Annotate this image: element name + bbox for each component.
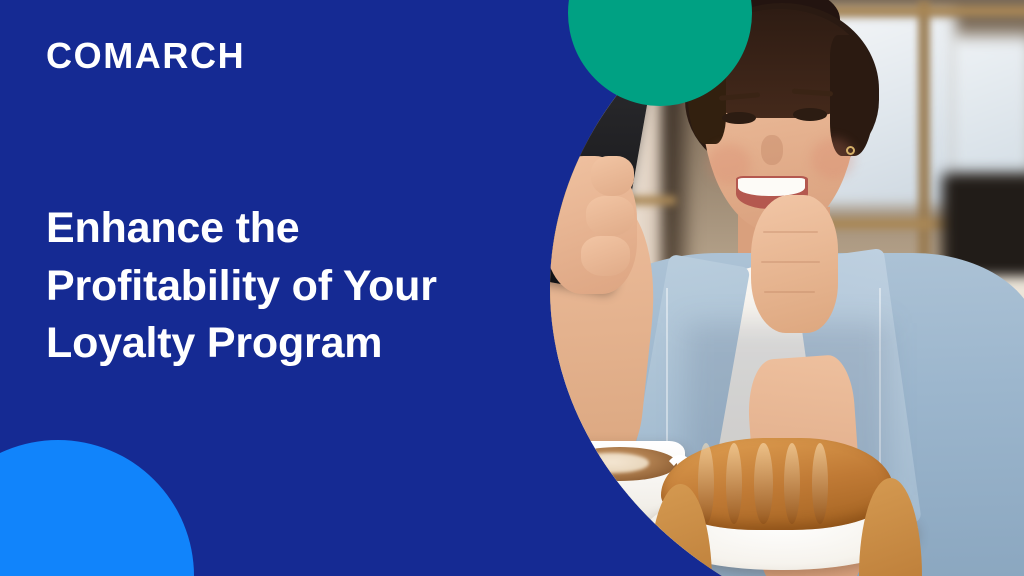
coffee-foam	[575, 453, 648, 473]
eye-right	[793, 108, 827, 121]
croissant-fold-4	[784, 443, 800, 524]
finger-3	[581, 236, 629, 276]
croissant-fold-5	[812, 443, 828, 524]
blue-circle-decoration	[0, 440, 194, 576]
knuckle-line-2	[761, 261, 820, 263]
headline-line-1: Enhance the	[46, 200, 526, 258]
marketing-banner: COMARCH Enhance the Profitability of You…	[0, 0, 1024, 576]
knuckle-line-1	[763, 231, 819, 233]
cheek-right	[811, 138, 855, 178]
croissant-fold-3	[754, 443, 773, 524]
teeth	[738, 178, 805, 197]
page-title: Enhance the Profitability of Your Loyalt…	[46, 200, 526, 373]
croissant-fold-2	[726, 443, 742, 524]
headline-line-3: Loyalty Program	[46, 315, 526, 373]
knuckle-line-3	[764, 291, 815, 293]
hand-on-chin	[751, 195, 838, 333]
nose	[761, 135, 783, 165]
headline-line-2: Profitability of Your	[46, 258, 526, 316]
finger-1	[591, 156, 635, 196]
comarch-logo[interactable]: COMARCH	[46, 38, 245, 74]
finger-2	[586, 196, 634, 236]
